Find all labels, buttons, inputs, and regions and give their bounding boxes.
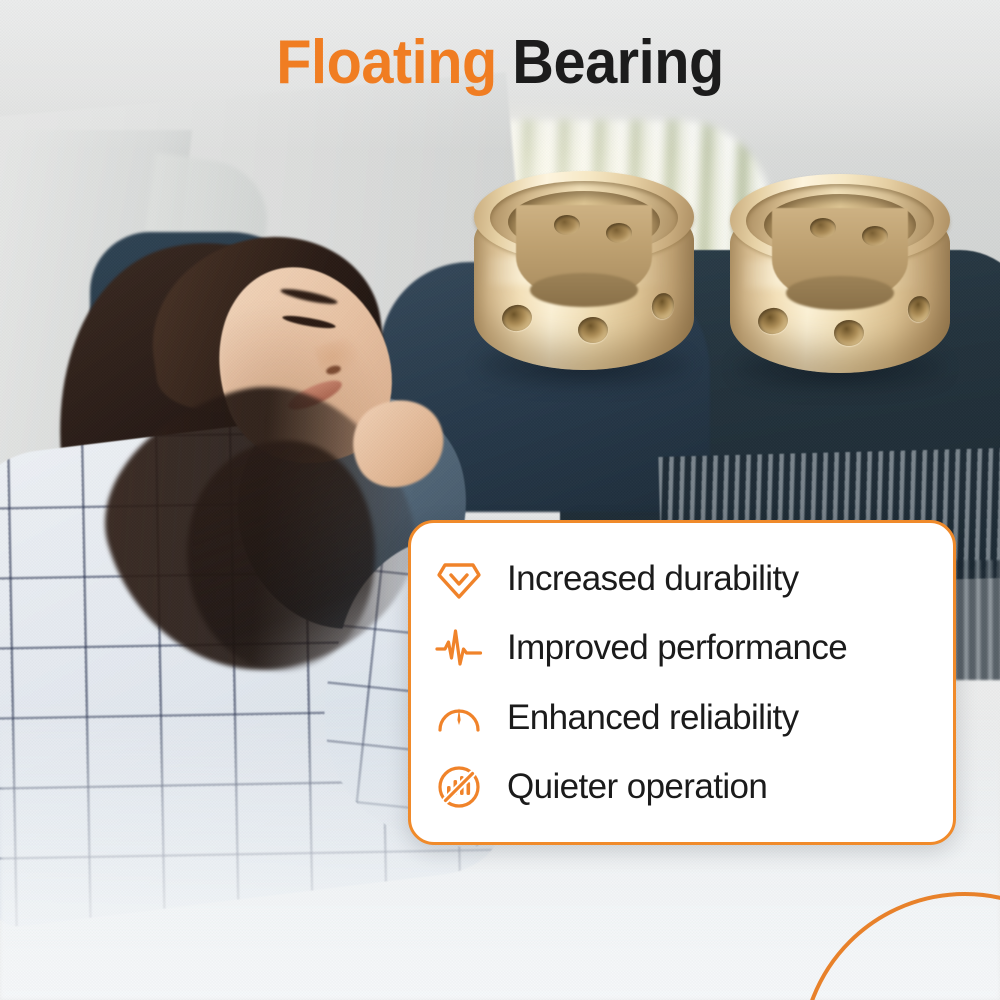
title-word-floating: Floating — [276, 28, 496, 97]
feature-item-reliability: Enhanced reliability — [433, 684, 927, 750]
feature-label-quiet: Quieter operation — [507, 769, 767, 804]
feature-label-durability: Increased durability — [507, 561, 799, 596]
durability-shield-icon — [433, 552, 485, 604]
features-card: Increased durability Improved performanc… — [408, 520, 956, 845]
product-poster: Floating Bearing — [0, 0, 1000, 1000]
feature-label-reliability: Enhanced reliability — [507, 700, 799, 735]
bearing-right-oil-hole-inner-2 — [862, 226, 888, 246]
feature-label-performance: Improved performance — [507, 630, 847, 665]
bearing-left-bore-floor — [530, 273, 638, 307]
bearing-left-oil-hole-inner-2 — [606, 223, 632, 243]
bearing-left-oil-hole-outer-2 — [578, 317, 608, 343]
bearing-left — [466, 165, 702, 401]
background-photo-car-interior — [0, 0, 1000, 1000]
bearing-right-oil-hole-inner-1 — [810, 218, 836, 238]
bearing-right-oil-hole-outer-2 — [834, 320, 864, 346]
title-word-bearing: Bearing — [497, 28, 724, 97]
reliability-gauge-icon — [433, 691, 485, 743]
bearing-left-oil-hole-inner-1 — [554, 215, 580, 235]
page-title: Floating Bearing — [35, 32, 965, 94]
performance-pulse-icon — [433, 622, 485, 674]
feature-item-durability: Increased durability — [433, 545, 927, 611]
bearing-right-bore-floor — [786, 276, 894, 310]
feature-item-performance: Improved performance — [433, 615, 927, 681]
feature-item-quiet: Quieter operation — [433, 754, 927, 820]
quiet-no-noise-icon — [433, 761, 485, 813]
bearing-right — [722, 168, 958, 404]
